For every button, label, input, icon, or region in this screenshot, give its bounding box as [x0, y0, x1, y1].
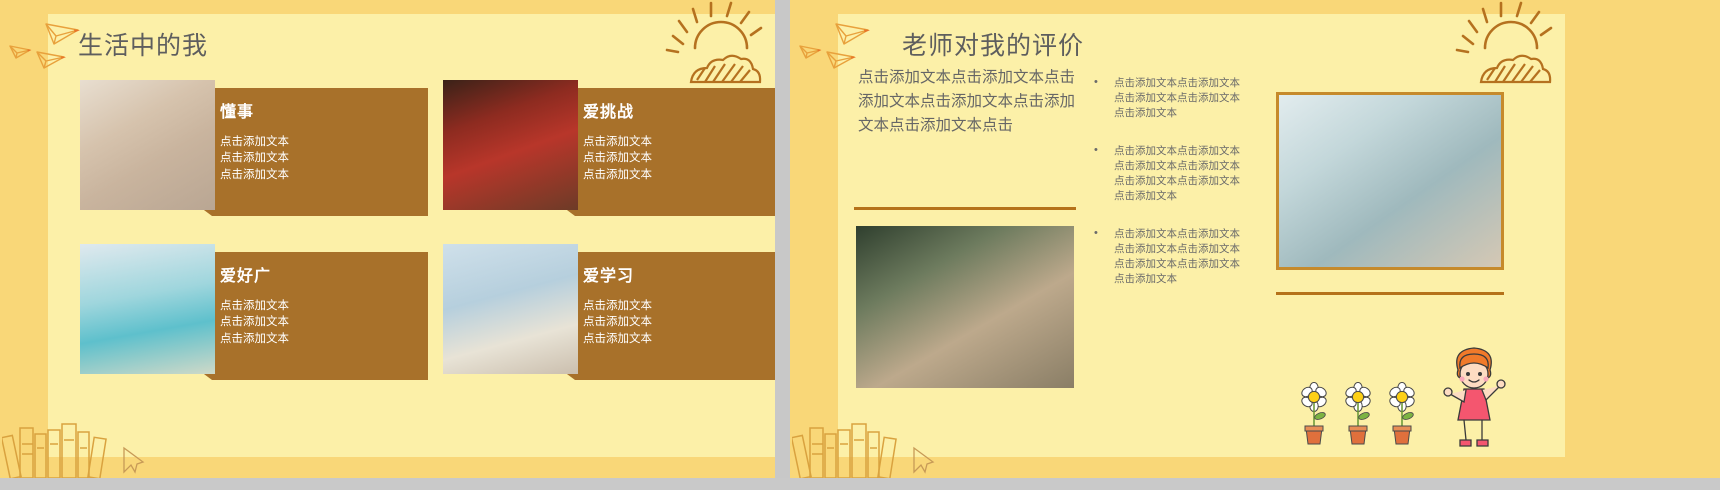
page-title: 老师对我的评价: [902, 26, 1084, 62]
bullet-line: 点击添加文本点击添加文本: [1114, 76, 1280, 91]
bullet-line: 点击添加文本点击添加文本: [1114, 91, 1280, 106]
card-body: 点击添加文本 点击添加文本 点击添加文本: [220, 298, 420, 347]
bullet-line: 点击添加文本点击添加文本: [1114, 227, 1280, 242]
card-line: 点击添加文本: [583, 298, 775, 314]
bullet-line: 点击添加文本点击添加文本: [1114, 257, 1280, 272]
bullet-line: 点击添加文本点击添加文本: [1114, 159, 1280, 174]
list-item: 点击添加文本点击添加文本 点击添加文本点击添加文本 点击添加文本点击添加文本 点…: [1090, 227, 1280, 288]
card-line: 点击添加文本: [583, 167, 775, 183]
card-heading: 爱好广: [220, 262, 420, 286]
slide-gutter: [775, 0, 790, 490]
photo-teacher-children: [1276, 92, 1504, 270]
page-title: 生活中的我: [78, 26, 208, 62]
card-body: 点击添加文本 点击添加文本 点击添加文本: [220, 134, 420, 183]
card-body: 点击添加文本 点击添加文本 点击添加文本: [583, 134, 775, 183]
slide-life: 生活中的我 懂事 点击添加文本 点击添加文本 点击添加文本 爱挑战 点击添加文本: [0, 0, 775, 490]
card-heading: 懂事: [220, 98, 420, 122]
card-heading: 爱挑战: [583, 98, 775, 122]
right-base: [0, 478, 1720, 490]
bullet-line: 点击添加文本点击添加文本: [1114, 242, 1280, 257]
card-heading: 爱学习: [583, 262, 775, 286]
photo-teacher-drum: [856, 226, 1074, 388]
slide-evaluation: 老师对我的评价 点击添加文本点击添加文本点击添加文本点击添加文本点击添加文本点击…: [790, 0, 1565, 490]
intro-paragraph: 点击添加文本点击添加文本点击添加文本点击添加文本点击添加文本点击添加文本点击: [858, 66, 1078, 138]
card-line: 点击添加文本: [220, 134, 420, 150]
right-padding: [1565, 0, 1720, 490]
slide-deck: 生活中的我 懂事 点击添加文本 点击添加文本 点击添加文本 爱挑战 点击添加文本: [0, 0, 1720, 490]
list-item: 点击添加文本点击添加文本 点击添加文本点击添加文本 点击添加文本: [1090, 76, 1280, 122]
card-line: 点击添加文本: [220, 167, 420, 183]
card-photo: [443, 80, 578, 210]
card-line: 点击添加文本: [583, 314, 775, 330]
flower-pots-icon: [1298, 382, 1423, 448]
divider-left: [854, 207, 1076, 210]
bullet-list: 点击添加文本点击添加文本 点击添加文本点击添加文本 点击添加文本 点击添加文本点…: [1090, 76, 1280, 309]
cartoon-girl-icon: [1438, 342, 1510, 450]
card-line: 点击添加文本: [583, 134, 775, 150]
bullet-line: 点击添加文本点击添加文本: [1114, 174, 1280, 189]
card-photo: [80, 80, 215, 210]
bullet-line: 点击添加文本: [1114, 189, 1280, 204]
bullet-line: 点击添加文本: [1114, 272, 1280, 287]
divider-right: [1276, 292, 1504, 295]
card-line: 点击添加文本: [220, 314, 420, 330]
card-line: 点击添加文本: [220, 298, 420, 314]
bullet-line: 点击添加文本: [1114, 106, 1280, 121]
list-item: 点击添加文本点击添加文本 点击添加文本点击添加文本 点击添加文本点击添加文本 点…: [1090, 144, 1280, 205]
card-photo: [80, 244, 215, 374]
card-line: 点击添加文本: [583, 150, 775, 166]
card-photo: [443, 244, 578, 374]
card-line: 点击添加文本: [220, 150, 420, 166]
card-line: 点击添加文本: [583, 331, 775, 347]
bullet-line: 点击添加文本点击添加文本: [1114, 144, 1280, 159]
card-body: 点击添加文本 点击添加文本 点击添加文本: [583, 298, 775, 347]
card-line: 点击添加文本: [220, 331, 420, 347]
